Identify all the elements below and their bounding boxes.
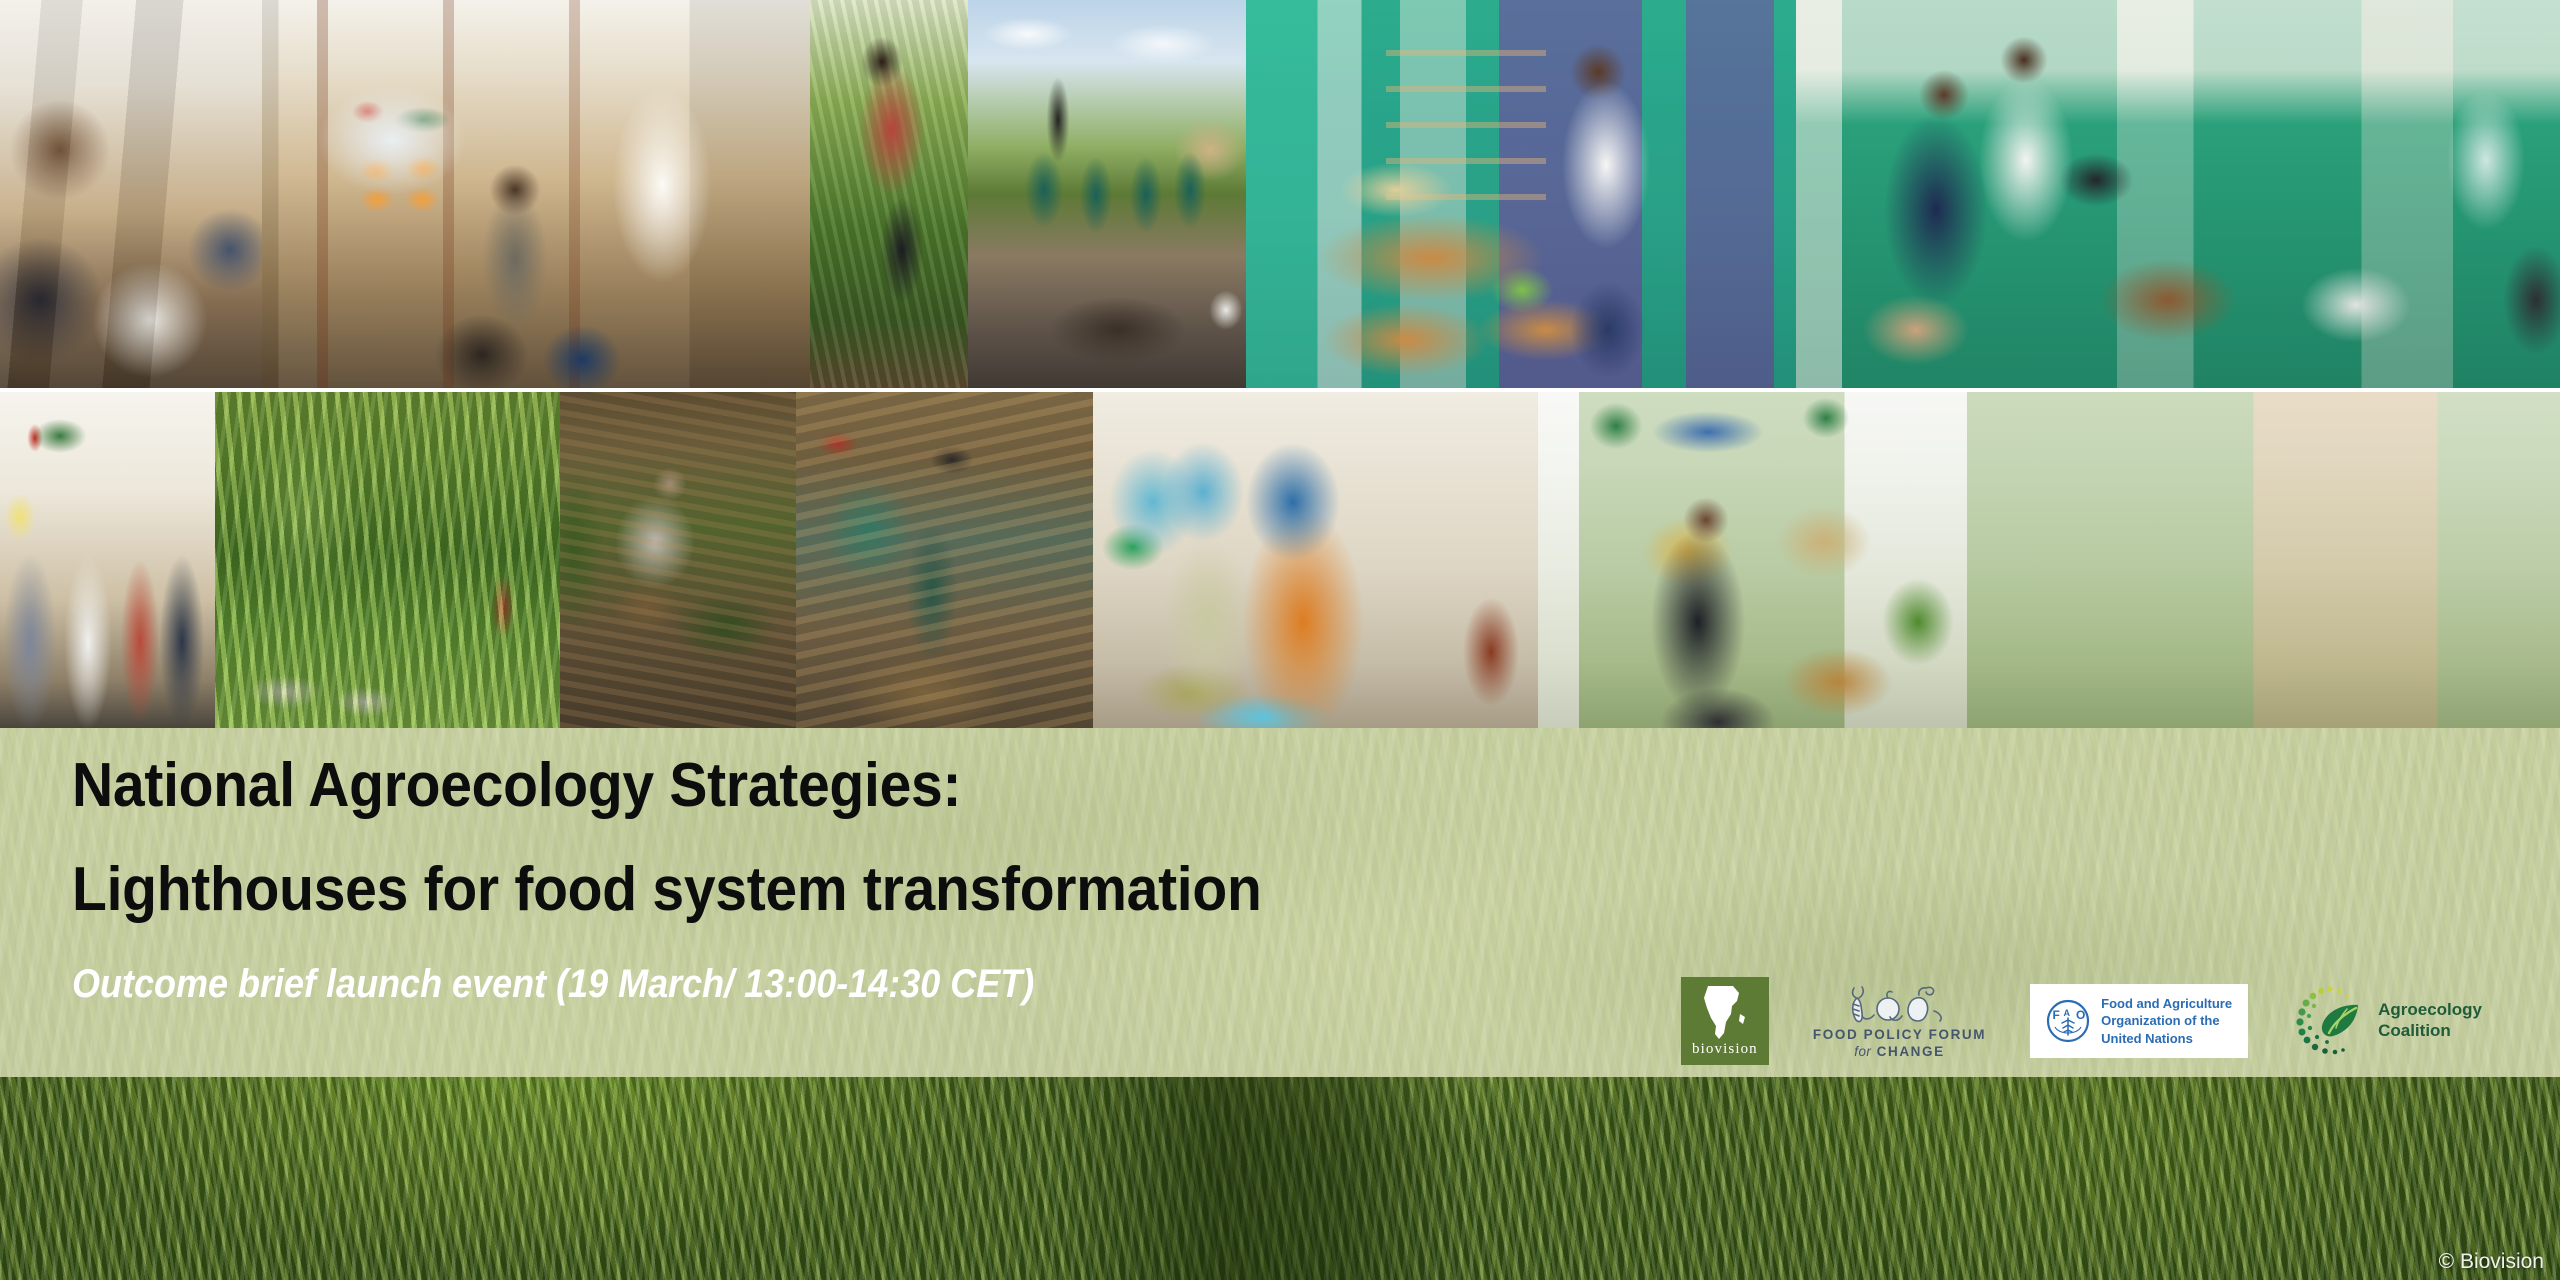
photo-flipchart-presentation [262,0,810,388]
photo-grocery-display-vendor [1538,392,2560,728]
aec-line-2: Coalition [2378,1021,2482,1042]
photo-agroforestry-plot [215,392,560,728]
svg-text:O: O [2076,1008,2085,1022]
banner-title-line-1: National Agroecology Strategies: [72,755,1636,817]
fao-seal-icon: F A O [2046,999,2090,1043]
fpf-change-word: CHANGE [1877,1044,1945,1059]
banner-title-line-2: Lighthouses for food system transformati… [72,859,1636,921]
africa-map-icon [1699,984,1751,1042]
aec-line-1: Agroecology [2378,1000,2482,1021]
agroecology-coalition-name: Agroecology Coalition [2378,1000,2482,1041]
vegetable-drawing-icon [1840,983,1960,1025]
biovision-wordmark: biovision [1692,1041,1758,1058]
svg-text:A: A [2064,1008,2071,1018]
fao-line-2: Organization of the [2101,1012,2232,1029]
photo-mosaic-row-2 [0,392,2560,728]
maize-shadow-overlay [1050,1077,1470,1280]
agroecology-coalition-logo[interactable]: Agroecology Coalition [2292,975,2482,1067]
biovision-logo[interactable]: biovision [1681,977,1769,1065]
svg-text:F: F [2053,1008,2060,1022]
dotted-circle-leaf-icon [2292,982,2370,1060]
title-block: National Agroecology Strategies: Lightho… [72,755,1772,1005]
fao-logo[interactable]: F A O Food and Agriculture Organization … [2030,984,2248,1058]
fpf-line-2: for CHANGE [1854,1044,1944,1059]
photo-compost-sieving [968,0,1246,388]
photo-agrishop-pineapple-crate [1246,0,1796,388]
photo-food-processing-women [1093,392,1538,728]
food-policy-forum-logo[interactable]: FOOD POLICY FORUM for CHANGE [1813,975,1986,1067]
event-banner: National Agroecology Strategies: Lightho… [0,0,2560,1280]
copyright-credit: © Biovision [2439,1250,2544,1274]
fao-name-text: Food and Agriculture Organization of the… [2101,995,2232,1046]
photo-mosaic-row-1 [0,0,2560,388]
banner-subtitle: Outcome brief launch event (19 March/ 13… [72,963,1602,1005]
photo-insect-breeding-facility [796,392,1093,728]
fao-line-1: Food and Agriculture [2101,995,2232,1012]
fpf-line-1: FOOD POLICY FORUM [1813,1027,1986,1042]
partner-logo-strip: biovision FOOD [1681,975,2482,1067]
fao-line-3: United Nations [2101,1030,2232,1047]
photo-retail-counter-staff [1796,0,2560,388]
photo-tree-nursery-worker [560,392,796,728]
photo-kenya-poster-stand [0,392,215,728]
fpf-for-word: for [1854,1044,1871,1059]
photo-workshop-room [0,0,262,388]
photo-woman-tending-crops [810,0,968,388]
